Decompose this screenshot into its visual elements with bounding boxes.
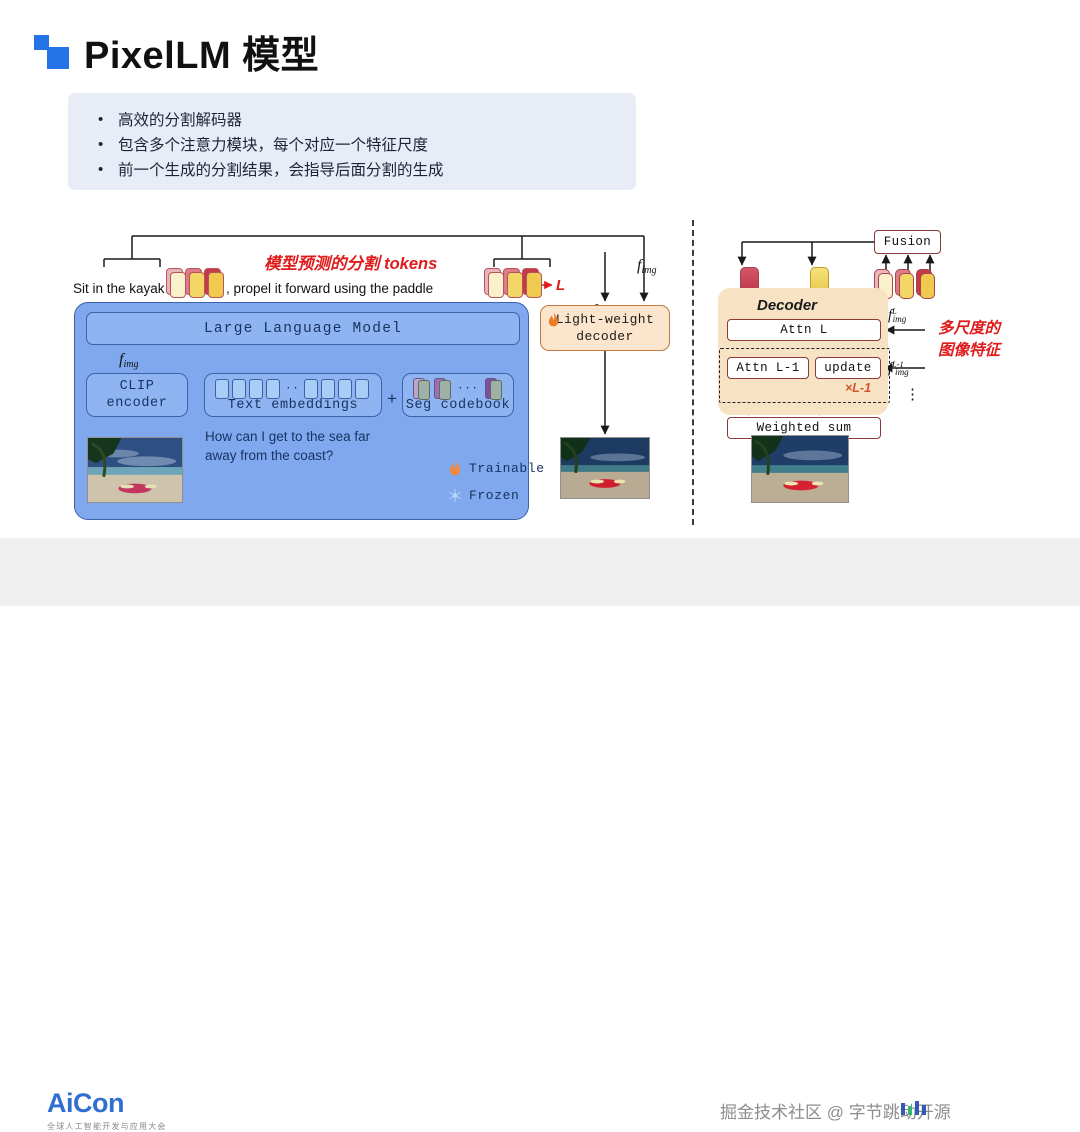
codebook-ellipsis: ··· xyxy=(455,381,481,398)
clip-line2: encoder xyxy=(107,395,168,412)
clip-encoder-box: CLIP encoder xyxy=(86,373,188,417)
fimg-label-top: fimg xyxy=(637,257,657,276)
flame-icon xyxy=(547,312,560,328)
text-embeddings-label: Text embeddings xyxy=(228,397,359,414)
clip-line1: CLIP xyxy=(120,378,155,395)
flame-icon xyxy=(448,460,462,477)
fusion-box: Fusion xyxy=(874,230,941,254)
output-segmentation-image xyxy=(560,437,650,499)
llm-label: Large Language Model xyxy=(204,321,402,337)
user-question-text: How can I get to the sea far away from t… xyxy=(205,427,405,465)
input-image-thumbnail xyxy=(87,437,183,503)
architecture-figure: Sit in the kayak , propel it forward usi… xyxy=(0,205,1080,535)
brand-logo-icon xyxy=(34,33,70,69)
page-footer: AiCon 全球人工智能开发与应用大会 掘金技术社区 @ 字节跳动开源 xyxy=(0,538,1080,606)
fimg-label-clip: fimg xyxy=(119,351,139,370)
vertical-ellipsis: ⋮ xyxy=(905,385,920,403)
bullet-item: 前一个生成的分割结果，会指导后面分割的生成 xyxy=(94,158,636,183)
text-embedding-cells: ·· xyxy=(215,379,369,399)
loss-label: L xyxy=(556,277,565,294)
plus-operator: + xyxy=(387,389,397,409)
page-header: PixelLM 模型 xyxy=(34,33,319,75)
summary-panel: 高效的分割解码器 包含多个注意力模块，每个对应一个特征尺度 前一个生成的分割结果… xyxy=(68,93,636,190)
aicon-tagline: 全球人工智能开发与应用大会 xyxy=(47,1121,167,1132)
annotation-multiscale-line1: 多尺度的 xyxy=(938,318,1000,340)
embedding-ellipsis: ·· xyxy=(283,381,301,398)
legend-trainable-label: Trainable xyxy=(469,461,545,476)
attn-L-minus-1-box: Attn L-1 xyxy=(727,357,809,379)
seg-codebook-box: ··· Seg codebook xyxy=(402,373,514,417)
legend-frozen: Frozen xyxy=(448,487,519,504)
decoder-line1: Light-weight xyxy=(556,311,654,328)
page-title: PixelLM 模型 xyxy=(84,37,319,75)
legend-trainable: Trainable xyxy=(448,460,545,477)
large-language-model-box: Large Language Model xyxy=(86,312,520,345)
annotation-multiscale: 多尺度的 图像特征 xyxy=(938,318,1000,362)
text-embeddings-box: ·· Text embeddings xyxy=(204,373,382,417)
aicon-brand: AiCon 全球人工智能开发与应用大会 xyxy=(47,1090,167,1132)
update-box: update xyxy=(815,357,881,379)
fimg-L-minus-1-label: fL-1img xyxy=(888,360,909,377)
prompt-sentence-part1: Sit in the kayak xyxy=(73,281,165,296)
seg-codebook-cells: ··· xyxy=(413,378,502,400)
attn-L-box: Attn L xyxy=(727,319,881,341)
legend-frozen-label: Frozen xyxy=(469,488,519,503)
snowflake-icon xyxy=(448,487,462,504)
bullet-item: 高效的分割解码器 xyxy=(94,108,636,133)
annotation-multiscale-line2: 图像特征 xyxy=(938,340,1000,362)
section-divider xyxy=(692,220,694,525)
fimg-L-label: fLimg xyxy=(888,307,906,324)
annotation-predicted-tokens: 模型预测的分割 tokens xyxy=(264,250,437,274)
bullet-list: 高效的分割解码器 包含多个注意力模块，每个对应一个特征尺度 前一个生成的分割结果… xyxy=(68,93,636,183)
right-output-image xyxy=(751,435,849,503)
aicon-wordmark: AiCon xyxy=(47,1090,167,1117)
decoder-line2: decoder xyxy=(576,328,633,345)
bullet-item: 包含多个注意力模块，每个对应一个特征尺度 xyxy=(94,133,636,158)
lightweight-decoder-box: Light-weight decoder xyxy=(540,305,670,351)
bytedance-logo-icon xyxy=(900,1101,934,1117)
decoder-label: Decoder xyxy=(757,297,817,314)
prompt-sentence-part2: , propel it forward using the paddle xyxy=(226,281,433,296)
loop-multiplier-label: ×L-1 xyxy=(845,381,871,395)
